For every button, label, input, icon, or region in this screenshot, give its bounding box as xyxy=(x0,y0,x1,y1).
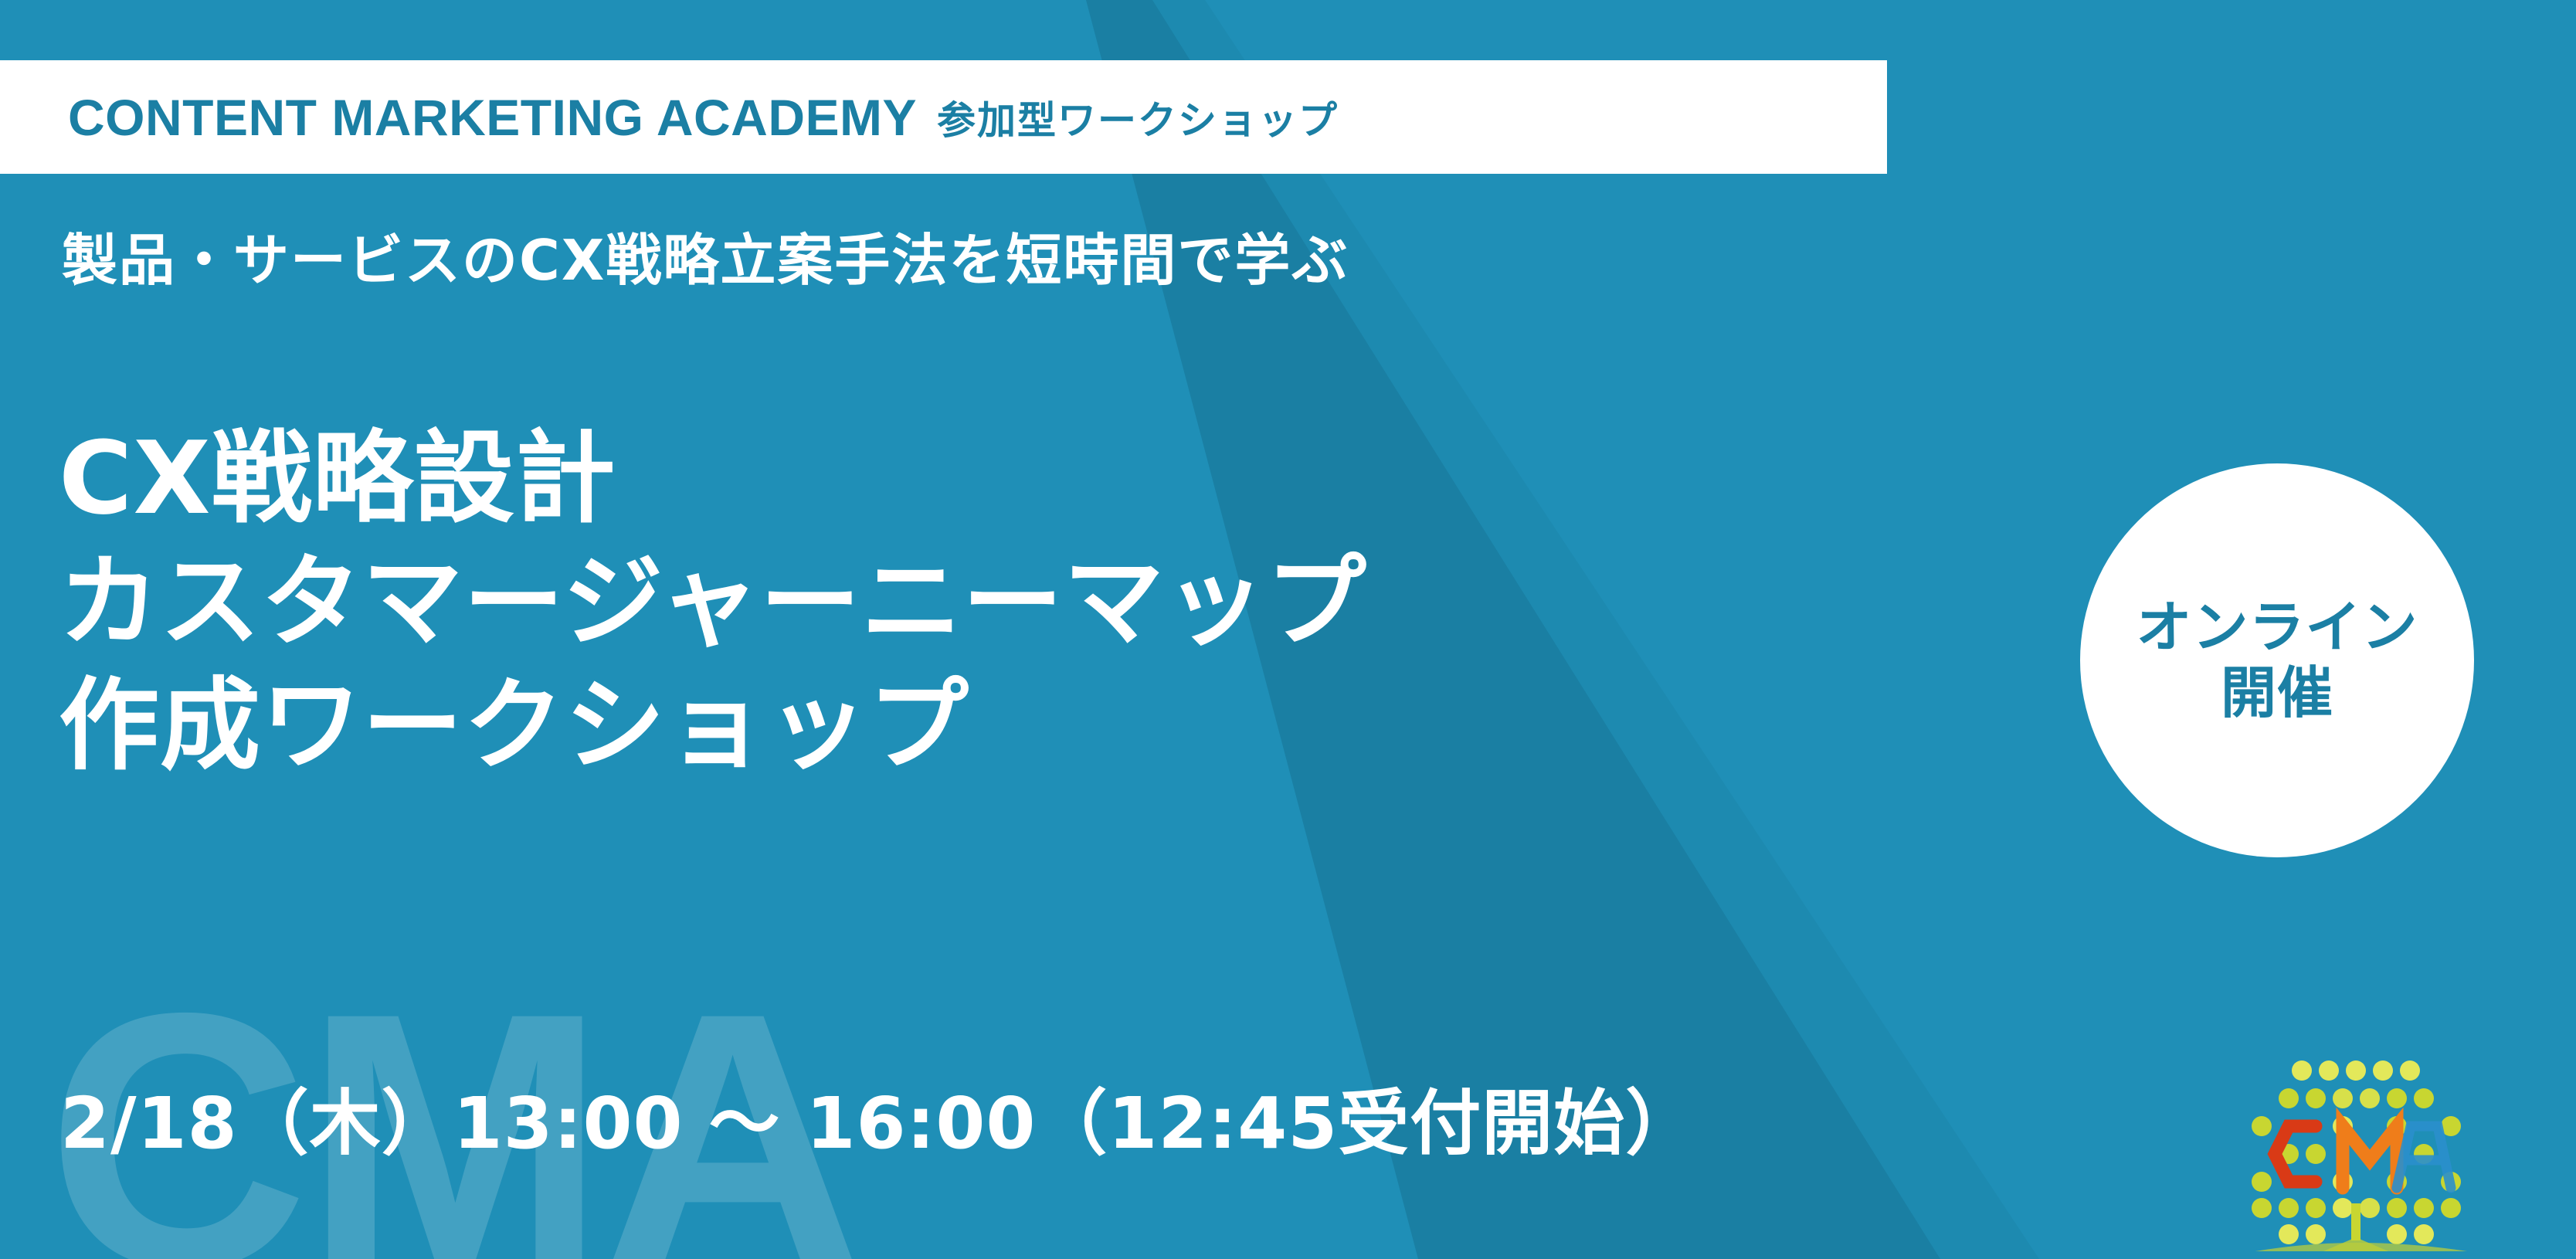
eyebrow-japanese-label: 参加型ワークショップ xyxy=(937,90,1339,145)
eyebrow-bar: CONTENT MARKETING ACADEMY 参加型ワークショップ xyxy=(0,60,1887,174)
title-line-2: カスタマージャーニーマップ xyxy=(59,541,1367,664)
title-line-1: CX戦略設計 xyxy=(59,417,1367,541)
cma-tree-logo xyxy=(2249,1044,2473,1251)
online-badge-line-2: 開催 xyxy=(2221,660,2333,726)
schedule-datetime: 2/18（木）13:00 〜 16:00（12:45受付開始） xyxy=(60,1066,1697,1169)
page-title: CX戦略設計 カスタマージャーニーマップ 作成ワークショップ xyxy=(59,417,1367,788)
online-badge-line-1: オンライン xyxy=(2136,595,2418,660)
eyebrow-english-label: CONTENT MARKETING ACADEMY xyxy=(68,88,917,147)
online-badge: オンライン 開催 xyxy=(2080,463,2474,857)
title-line-3: 作成ワークショップ xyxy=(59,664,1367,788)
subtitle: 製品・サービスのCX戦略立案手法を短時間で学ぶ xyxy=(62,215,1349,296)
event-banner: CMA CONTENT MARKETING ACADEMY 参加型ワークショップ… xyxy=(0,0,2576,1259)
